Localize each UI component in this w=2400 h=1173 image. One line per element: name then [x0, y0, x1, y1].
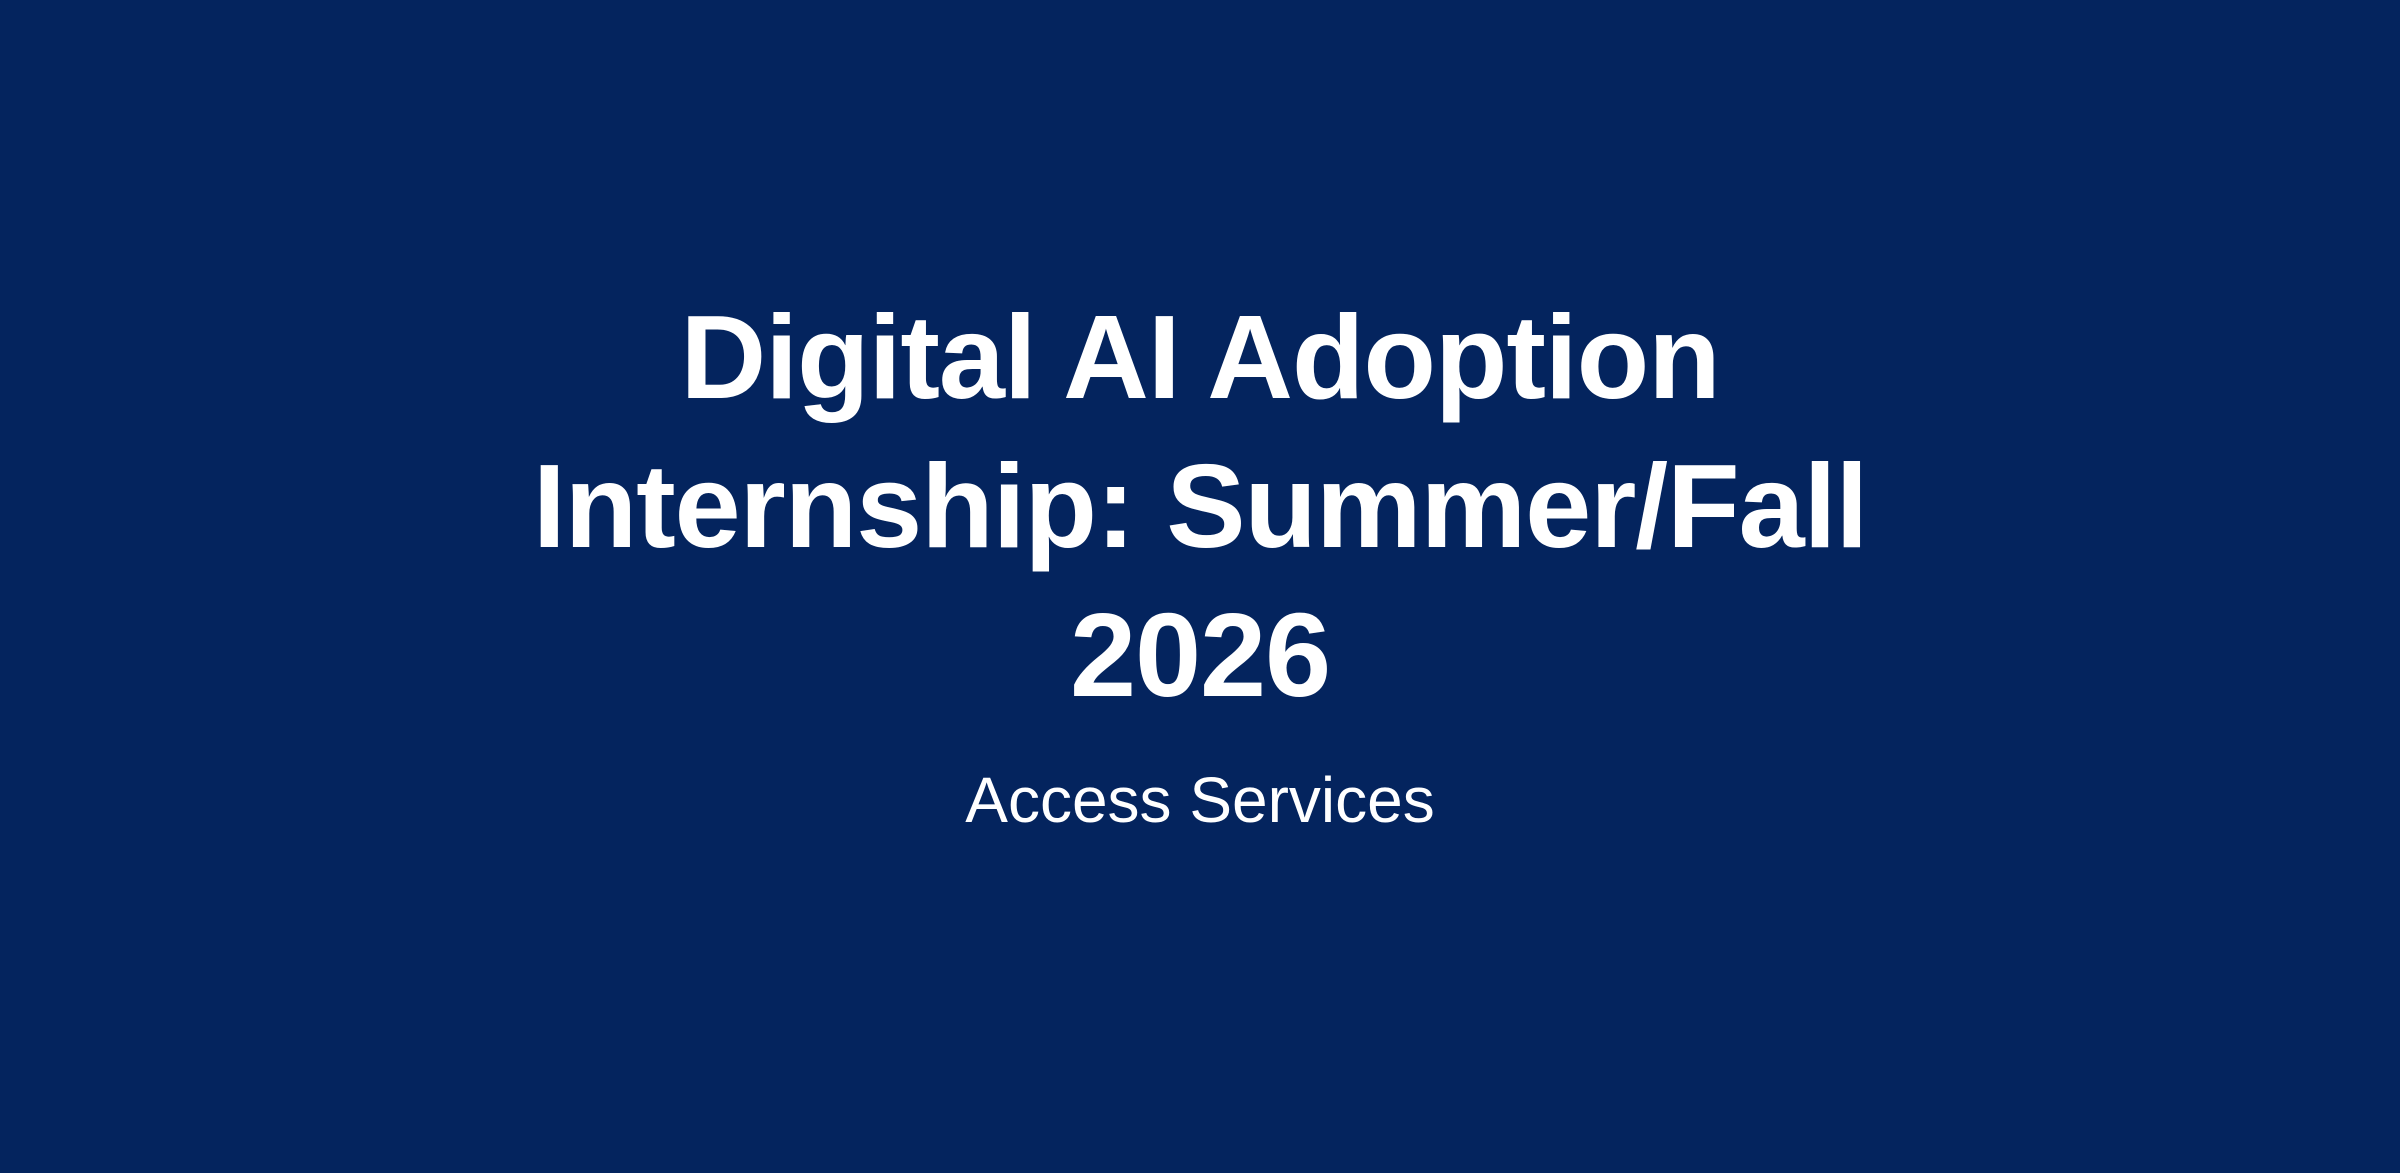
slide-subtitle: Access Services: [965, 762, 1434, 838]
slide-content-block: Digital AI Adoption Internship: Summer/F…: [490, 283, 1910, 838]
title-slide: Digital AI Adoption Internship: Summer/F…: [0, 0, 2400, 1173]
slide-title: Digital AI Adoption Internship: Summer/F…: [490, 283, 1910, 730]
